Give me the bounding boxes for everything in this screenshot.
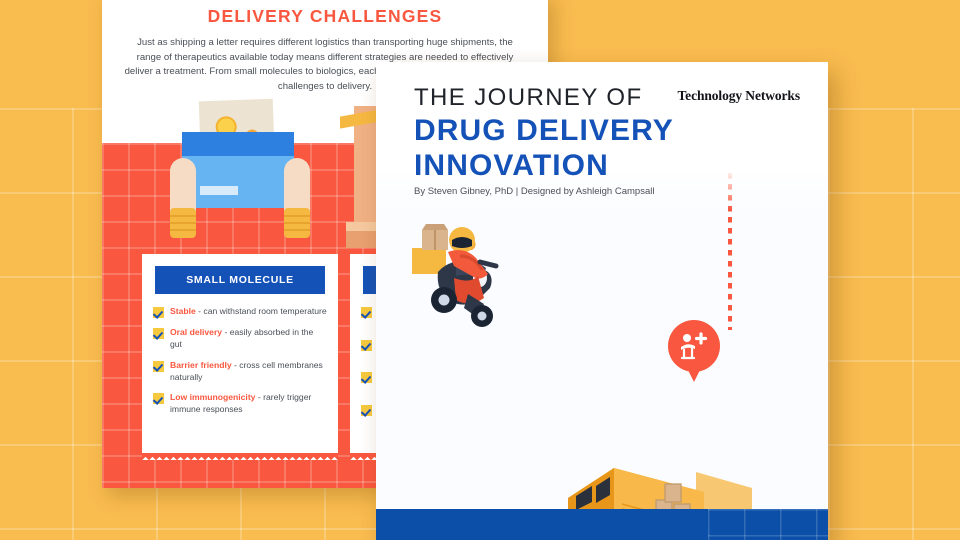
sleeve-cuff-right [284,208,310,238]
scooter-courier-icon [404,220,534,330]
check-icon [361,372,372,383]
check-icon [153,328,164,339]
envelope-label [200,186,238,195]
front-card-header: THE JOURNEY OF DRUG DELIVERY INNOVATION … [376,62,828,210]
envelope-body [182,156,294,208]
envelope-with-pills-icon [154,100,324,250]
footer-grid [708,509,828,540]
patient-plus-icon [679,332,709,362]
feature-heading: SMALL MOLECULE [155,266,325,294]
byline: By Steven Gibney, PhD | Designed by Ashl… [414,186,654,197]
list-item: Low immunogenicity - rarely trigger immu… [153,392,327,416]
sleeve-cuff-left [170,208,196,238]
back-card-title: DELIVERY CHALLENGES [102,6,548,27]
feature-card-small-molecule[interactable]: SMALL MOLECULE Stable - can withstand ro… [142,254,338,460]
list-item: Barrier friendly - cross cell membranes … [153,360,327,384]
list-item: Oral delivery - easily absorbed in the g… [153,327,327,351]
brand-logo-technology-networks: Technology Networks [678,88,800,104]
hospital-map-pin-icon [668,320,720,384]
feature-term: Oral delivery [170,327,222,337]
feature-list: Stable - can withstand room temperature … [153,306,327,416]
check-icon [361,307,372,318]
front-card-footer-band [376,509,828,540]
feature-term: Barrier friendly [170,360,232,370]
screenshot-stage: DELIVERY CHALLENGES Just as shipping a l… [0,0,960,540]
check-icon [361,405,372,416]
check-icon [153,393,164,404]
feature-term: Low immunogenicity [170,392,255,402]
title-line-3: INNOVATION [414,149,609,183]
title-line-2: DRUG DELIVERY [414,114,674,148]
title-line-1: THE JOURNEY OF [414,84,643,112]
zigzag-edge [142,453,338,460]
feature-desc: - can withstand room temperature [196,306,327,316]
check-icon [153,361,164,372]
check-icon [361,340,372,351]
check-icon [153,307,164,318]
list-item: Stable - can withstand room temperature [153,306,327,318]
feature-term: Stable [170,306,196,316]
front-card-journey-of-drug-delivery[interactable]: THE JOURNEY OF DRUG DELIVERY INNOVATION … [376,62,828,540]
